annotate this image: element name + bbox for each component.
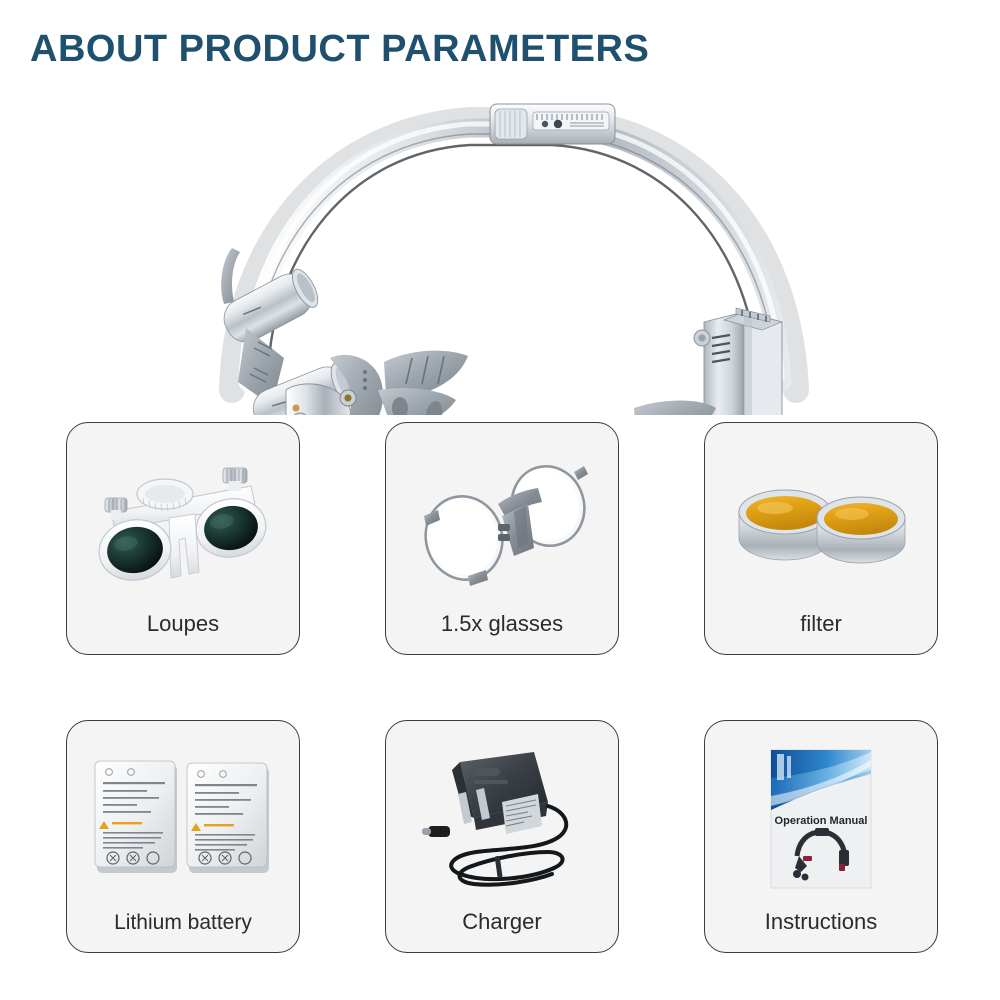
power-adapter-charger-icon	[402, 744, 602, 894]
battery-pack-right	[187, 763, 269, 873]
accessory-card-glasses[interactable]: 1.5x glasses	[385, 422, 619, 655]
operation-manual-booklet-icon: Operation Manual	[721, 744, 921, 894]
lithium-battery-pack-icon	[83, 745, 283, 895]
accessory-card-loupes[interactable]: Loupes	[66, 422, 300, 655]
rear-battery-pack	[694, 308, 782, 415]
filter-cap-right	[817, 497, 905, 563]
card-label-glasses: 1.5x glasses	[386, 612, 618, 654]
headlight-illustration	[0, 90, 1000, 415]
battery-image	[67, 721, 299, 911]
manual-title-text: Operation Manual	[775, 815, 868, 827]
binocular-loupes-icon	[83, 446, 283, 596]
page-title: ABOUT PRODUCT PARAMETERS	[30, 28, 649, 71]
magnifier-glasses-icon	[402, 446, 602, 596]
amber-filter-caps-icon	[721, 446, 921, 596]
accessory-card-instructions[interactable]: Operation Manual Instructions	[704, 720, 938, 953]
accessory-card-battery[interactable]: Lithium battery	[66, 720, 300, 953]
left-temple-arm	[378, 351, 468, 415]
instructions-image: Operation Manual	[705, 721, 937, 910]
adapter-body	[452, 752, 548, 834]
accessory-card-filter[interactable]: filter	[704, 422, 938, 655]
card-label-charger: Charger	[386, 910, 618, 952]
accessory-card-charger[interactable]: Charger	[385, 720, 619, 953]
charger-image	[386, 721, 618, 910]
loupes-image	[67, 423, 299, 612]
accessories-card-grid: Loupes	[66, 422, 938, 953]
product-parameters-page: ABOUT PRODUCT PARAMETERS	[0, 0, 1000, 1000]
glasses-image	[386, 423, 618, 612]
hero-product-image	[0, 90, 1000, 415]
headband-adjuster-module	[490, 104, 615, 144]
card-label-filter: filter	[705, 612, 937, 654]
card-label-loupes: Loupes	[67, 612, 299, 654]
filter-image	[705, 423, 937, 612]
card-label-battery: Lithium battery	[67, 911, 299, 952]
card-label-instructions: Instructions	[705, 910, 937, 952]
loupe-eyepiece-left	[94, 515, 175, 587]
dc-connector	[422, 826, 450, 837]
battery-pack-left	[95, 761, 177, 873]
